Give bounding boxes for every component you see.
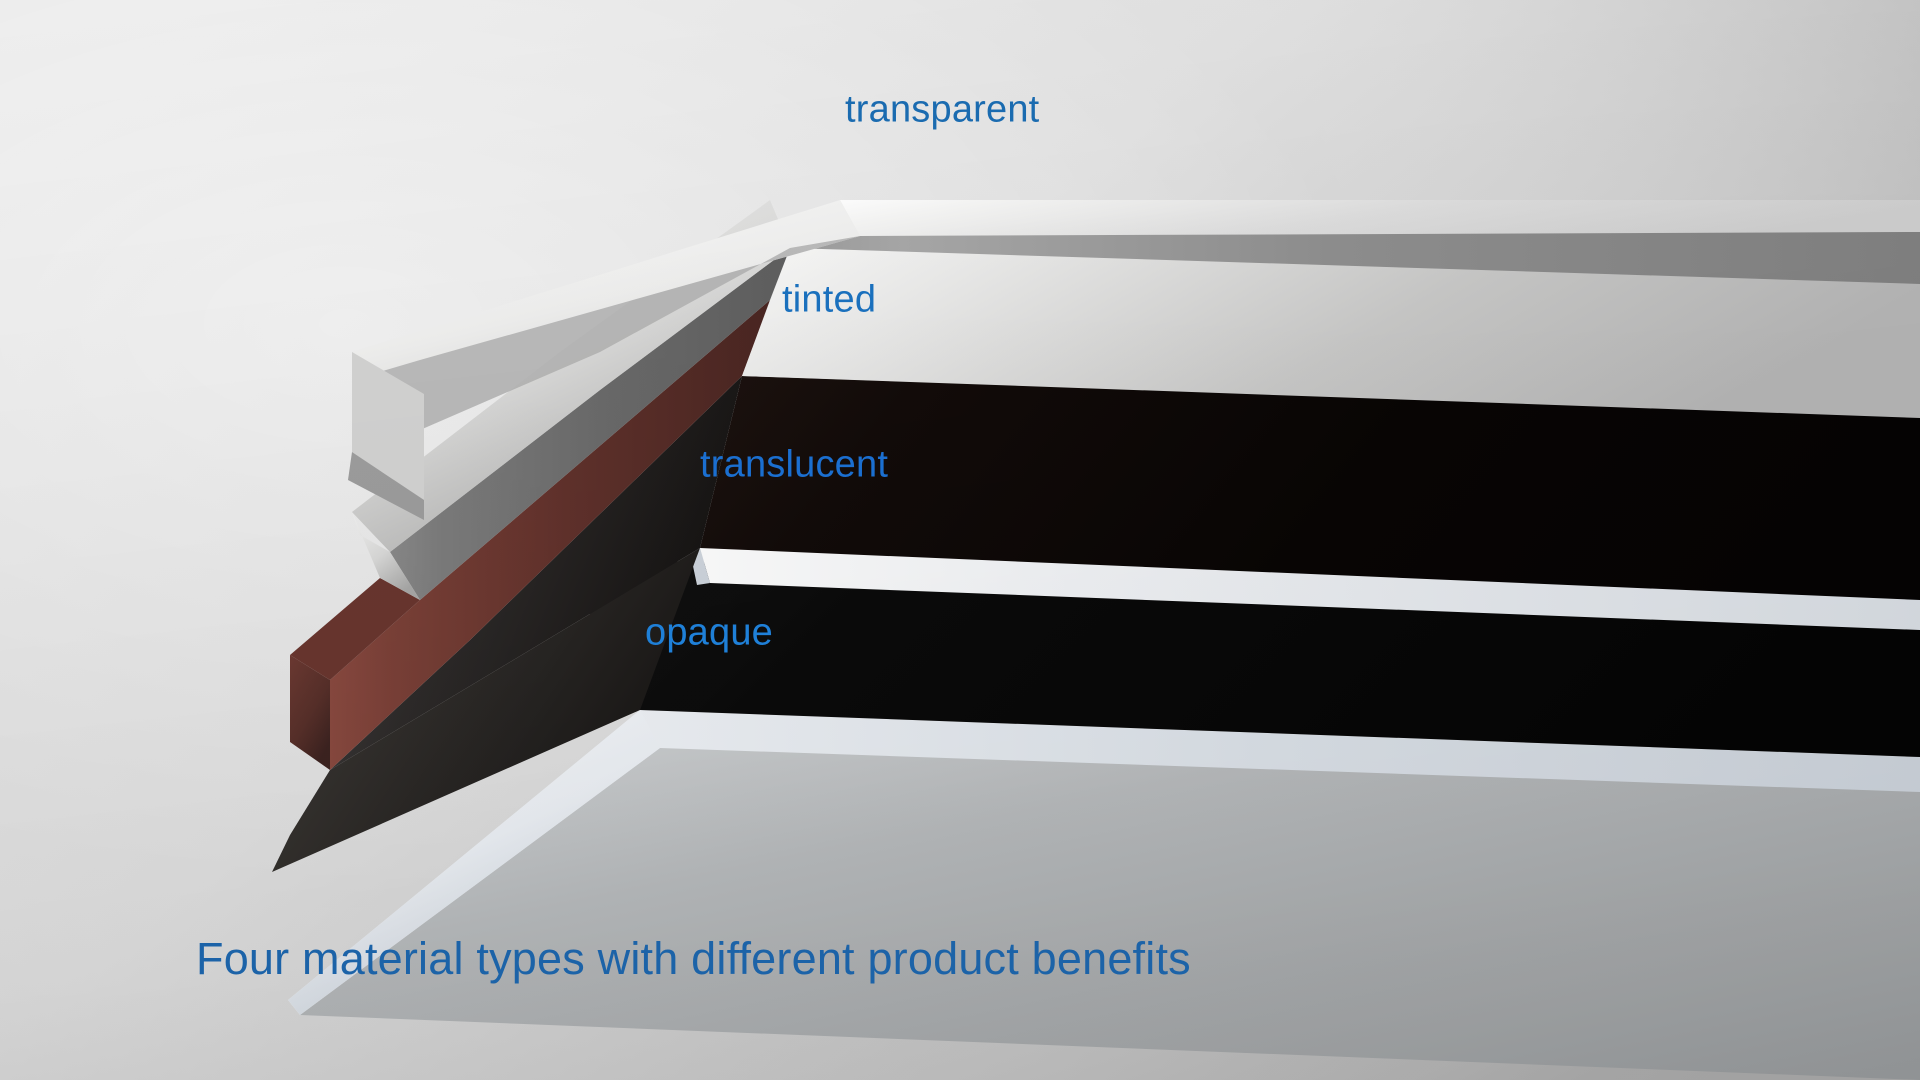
illustration-stage: transparent tinted translucent opaque Fo… <box>0 0 1920 1080</box>
scene-shading-overlay <box>0 0 1920 1080</box>
exploded-material-stack-diagram <box>0 0 1920 1080</box>
